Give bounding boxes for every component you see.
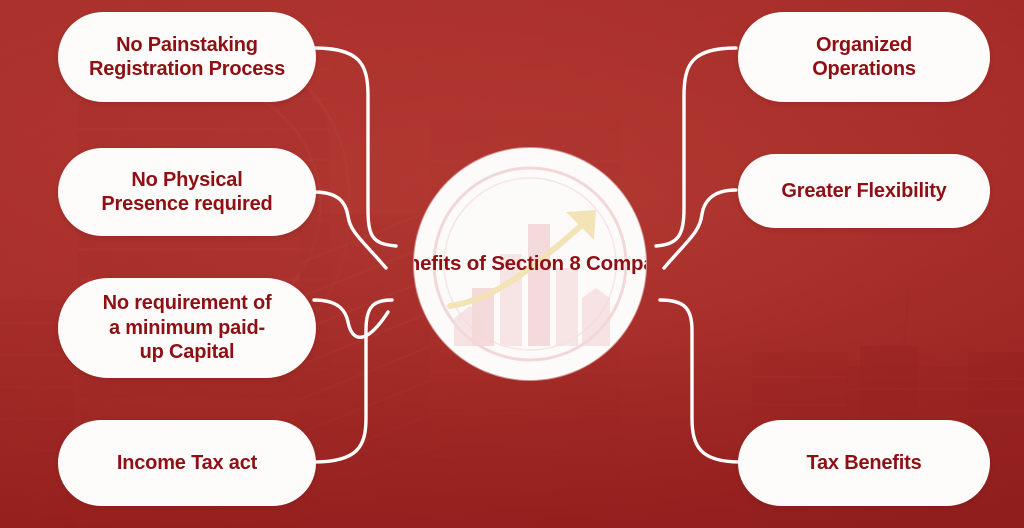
pill-l2-line2: Presence required	[87, 192, 286, 216]
pill-l3-line2: a minimum paid-	[89, 316, 286, 340]
center-node-label: Benefits of Section 8 Company	[414, 250, 646, 277]
connector-right-1	[656, 48, 736, 246]
pill-r2-line1: Greater Flexibility	[767, 179, 960, 203]
center-node-label-line2: Section 8 Company	[491, 252, 646, 275]
pill-r1-line2: Operations	[798, 57, 930, 81]
pill-l1-line2: Registration Process	[75, 57, 299, 81]
connector-left-2	[314, 192, 386, 268]
connector-right-2	[664, 190, 736, 268]
connector-right-3	[660, 300, 740, 462]
center-node: Benefits of Section 8 Company	[414, 148, 646, 380]
benefit-pill-organized-operations[interactable]: Organized Operations	[738, 12, 990, 102]
benefit-pill-no-painstaking-registration-process[interactable]: No Painstaking Registration Process	[58, 12, 316, 102]
benefits-infographic: Benefits of Section 8 Company No Painsta…	[0, 0, 1024, 528]
benefit-pill-income-tax-act[interactable]: Income Tax act	[58, 420, 316, 506]
pill-r3-line1: Tax Benefits	[792, 451, 935, 475]
benefit-pill-no-minimum-paid-up-capital[interactable]: No requirement of a minimum paid- up Cap…	[58, 278, 316, 378]
benefit-pill-tax-benefits[interactable]: Tax Benefits	[738, 420, 990, 506]
pill-l3-line3: up Capital	[89, 340, 286, 364]
center-node-label-line1: Benefits of	[414, 252, 486, 275]
pill-l1-line1: No Painstaking	[75, 33, 299, 57]
connector-left-3	[314, 300, 388, 337]
pill-l4-line1: Income Tax act	[103, 451, 271, 475]
pill-l2-line1: No Physical	[87, 168, 286, 192]
connector-left-1	[314, 48, 396, 246]
pill-r1-line1: Organized	[798, 33, 930, 57]
benefit-pill-greater-flexibility[interactable]: Greater Flexibility	[738, 154, 990, 228]
benefit-pill-no-physical-presence-required[interactable]: No Physical Presence required	[58, 148, 316, 236]
pill-l3-line1: No requirement of	[89, 291, 286, 315]
